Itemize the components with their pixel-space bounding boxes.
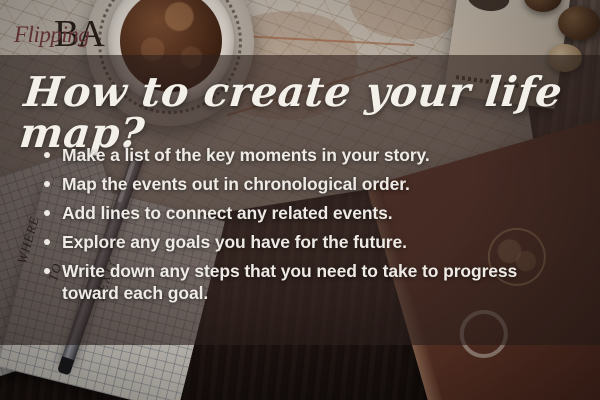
list-item: Make a list of the key moments in your s… — [38, 144, 578, 166]
brand-logo[interactable]: BA Flipping — [8, 10, 128, 54]
coin — [558, 6, 600, 40]
steps-list: Make a list of the key moments in your s… — [38, 144, 578, 311]
list-item: Map the events out in chronological orde… — [38, 173, 578, 195]
social-graphic-canvas: WHERE TO NEXT? BA Flipping How to create… — [0, 0, 600, 400]
list-item: Write down any steps that you need to ta… — [38, 260, 578, 304]
list-item: Explore any goals you have for the futur… — [38, 231, 578, 253]
list-item: Add lines to connect any related events. — [38, 202, 578, 224]
logo-script-text: Flipping — [14, 22, 89, 48]
page-title: How to create your life map? — [18, 72, 587, 154]
banknote-print-mark — [466, 0, 511, 14]
